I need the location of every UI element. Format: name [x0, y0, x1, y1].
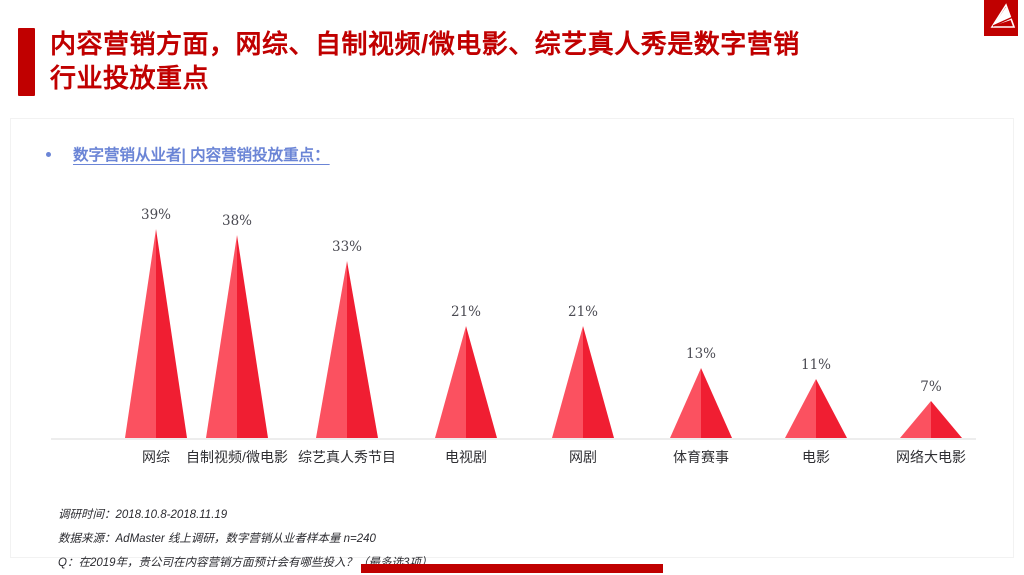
bar-value-label: 33% [332, 239, 362, 255]
bar-7: 11% [785, 379, 847, 438]
category-label: 网综 [142, 447, 170, 467]
bar-triangle [670, 368, 732, 438]
bar-value-label: 21% [568, 304, 598, 320]
category-label: 网剧 [569, 447, 597, 467]
slide-canvas: 内容营销方面，网综、自制视频/微电影、综艺真人秀是数字营销 行业投放重点 数字营… [0, 0, 1024, 575]
bar-triangle [316, 261, 378, 438]
footnote-survey-period: 调研时间：2018.10.8-2018.11.19 [58, 503, 958, 527]
bar-4: 21% [435, 326, 497, 438]
bar-triangle [900, 401, 962, 438]
bar-value-label: 21% [451, 304, 481, 320]
category-label: 体育赛事 [673, 447, 729, 467]
bar-chart: 39%38%33%21%21%13%11%7% 网综自制视频/微电影综艺真人秀节… [51, 189, 976, 489]
bar-8: 7% [900, 401, 962, 438]
bar-1: 39% [125, 229, 187, 438]
category-label: 综艺真人秀节目 [298, 447, 396, 467]
category-label: 电视剧 [445, 447, 487, 467]
bottom-accent-bar [361, 564, 663, 573]
bar-value-label: 38% [222, 213, 252, 229]
bar-2: 38% [206, 235, 268, 438]
category-label: 网络大电影 [896, 447, 966, 467]
chart-category-axis: 网综自制视频/微电影综艺真人秀节目电视剧网剧体育赛事电影网络大电影 [51, 447, 976, 477]
bar-value-label: 39% [141, 207, 171, 223]
bar-triangle [435, 326, 497, 438]
chart-subtitle-label: 数字营销从业者| 内容营销投放重点： [73, 143, 330, 165]
page-title-line-2: 行业投放重点 [50, 61, 950, 95]
bar-triangle [125, 229, 187, 438]
admaster-logo-icon [984, 0, 1018, 36]
bar-triangle [206, 235, 268, 438]
page-title: 内容营销方面，网综、自制视频/微电影、综艺真人秀是数字营销 行业投放重点 [50, 27, 950, 95]
bar-value-label: 13% [686, 346, 716, 362]
chart-plot-area: 39%38%33%21%21%13%11%7% [51, 189, 976, 439]
bar-value-label: 11% [801, 357, 831, 373]
category-label: 自制视频/微电影 [186, 447, 288, 467]
chart-axis-line [51, 438, 976, 440]
footnote-data-source: 数据来源：AdMaster 线上调研，数字营销从业者样本量 n=240 [58, 527, 958, 551]
content-card: 数字营销从业者| 内容营销投放重点： 39%38%33%21%21%13%11%… [10, 118, 1014, 558]
title-accent-bar [18, 28, 35, 96]
bar-triangle [785, 379, 847, 438]
chart-subtitle: 数字营销从业者| 内容营销投放重点： [46, 143, 330, 165]
category-label: 电影 [802, 447, 830, 467]
page-title-line-1: 内容营销方面，网综、自制视频/微电影、综艺真人秀是数字营销 [50, 27, 950, 61]
bar-6: 13% [670, 368, 732, 438]
bar-3: 33% [316, 261, 378, 438]
bar-triangle [552, 326, 614, 438]
bullet-dot-icon [46, 152, 51, 157]
bar-value-label: 7% [920, 379, 941, 395]
bar-5: 21% [552, 326, 614, 438]
